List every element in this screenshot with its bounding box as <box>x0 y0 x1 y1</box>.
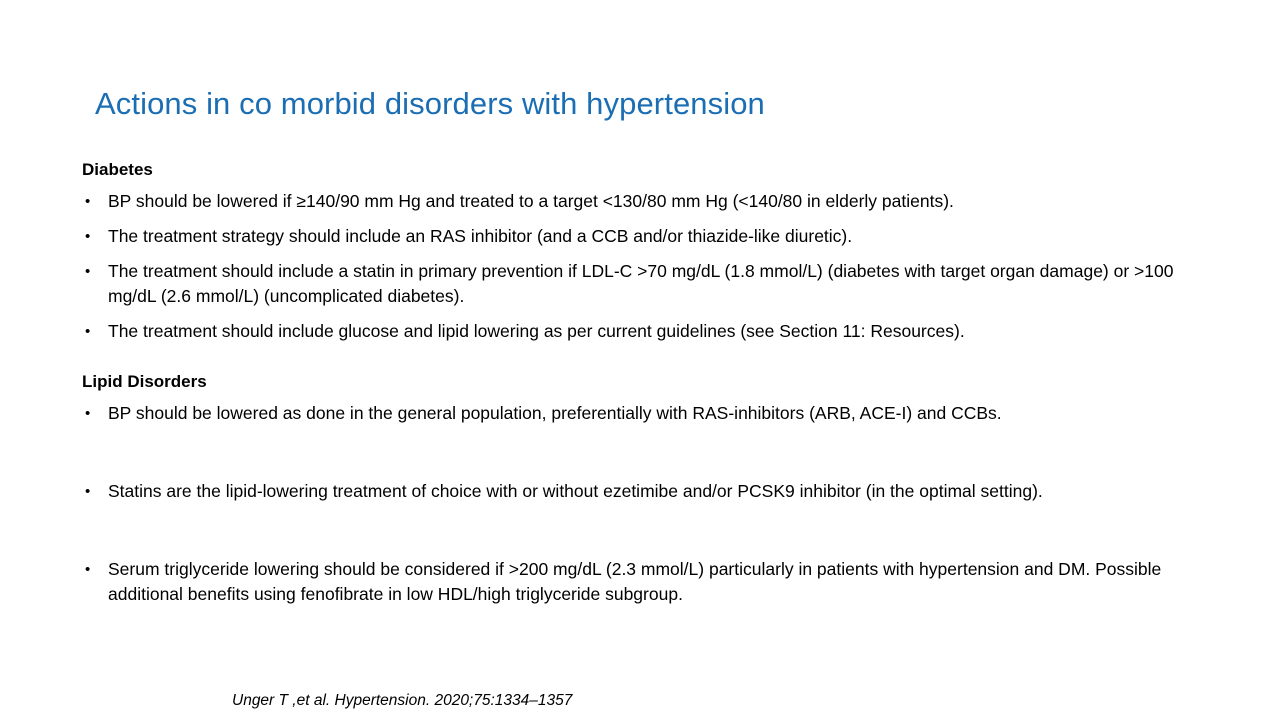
bullet-dot-icon: • <box>85 557 90 582</box>
list-item-text: BP should be lowered as done in the gene… <box>108 401 1182 426</box>
bullet-dot-icon: • <box>85 319 90 344</box>
section-lipid-disorders: Lipid Disorders • BP should be lowered a… <box>82 370 1182 607</box>
page-title: Actions in co morbid disorders with hype… <box>95 85 1195 123</box>
list-item-text: BP should be lowered if ≥140/90 mm Hg an… <box>108 189 1182 214</box>
list-item-text: Serum triglyceride lowering should be co… <box>108 557 1182 607</box>
list-item: • Serum triglyceride lowering should be … <box>82 557 1182 607</box>
citation-reference: Unger T ,et al. Hypertension. 2020;75:13… <box>232 690 572 711</box>
section-heading: Diabetes <box>82 158 1182 181</box>
bullet-dot-icon: • <box>85 401 90 426</box>
section-heading: Lipid Disorders <box>82 370 1182 393</box>
slide-canvas: Actions in co morbid disorders with hype… <box>0 0 1280 720</box>
list-item: • The treatment strategy should include … <box>82 224 1182 249</box>
list-item: • BP should be lowered if ≥140/90 mm Hg … <box>82 189 1182 214</box>
list-item-text: The treatment should include glucose and… <box>108 319 1182 344</box>
bullet-dot-icon: • <box>85 189 90 214</box>
section-diabetes: Diabetes • BP should be lowered if ≥140/… <box>82 158 1182 344</box>
list-item: • Statins are the lipid-lowering treatme… <box>82 479 1182 504</box>
list-item: • The treatment should include glucose a… <box>82 319 1182 344</box>
list-item: • BP should be lowered as done in the ge… <box>82 401 1182 426</box>
list-item: • The treatment should include a statin … <box>82 259 1182 309</box>
slide-body: Diabetes • BP should be lowered if ≥140/… <box>82 158 1182 607</box>
bullet-dot-icon: • <box>85 479 90 504</box>
bullet-list-diabetes: • BP should be lowered if ≥140/90 mm Hg … <box>82 189 1182 344</box>
bullet-dot-icon: • <box>85 259 90 284</box>
bullet-dot-icon: • <box>85 224 90 249</box>
bullet-list-lipid-disorders: • BP should be lowered as done in the ge… <box>82 401 1182 607</box>
list-item-text: The treatment should include a statin in… <box>108 259 1182 309</box>
list-item-text: Statins are the lipid-lowering treatment… <box>108 479 1182 504</box>
list-item-text: The treatment strategy should include an… <box>108 224 1182 249</box>
